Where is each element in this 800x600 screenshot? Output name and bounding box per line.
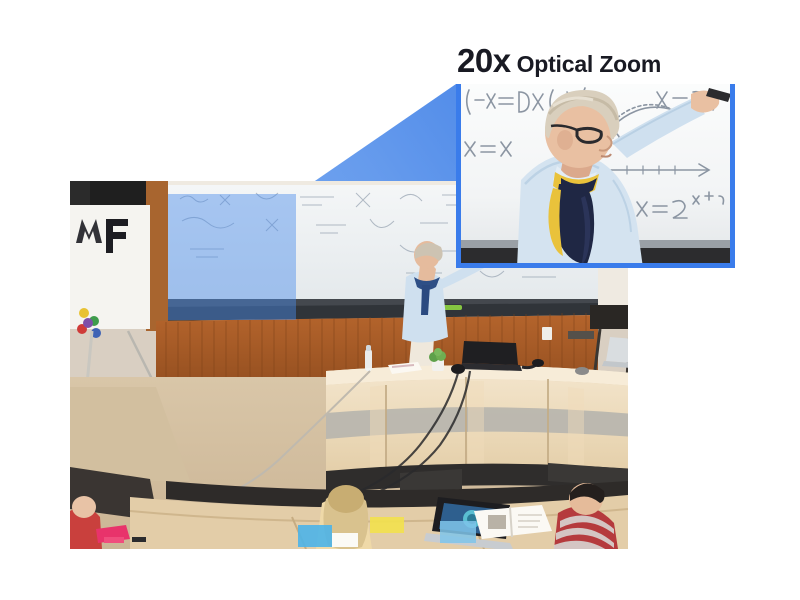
podium-desk: [326, 365, 628, 499]
inset-illustration: [461, 84, 730, 268]
magnification-value: 20x: [457, 42, 511, 79]
page-title: 20xOptical Zoom: [457, 44, 661, 77]
optical-zoom-inset: [456, 84, 735, 268]
zoom-promo-canvas: 20xOptical Zoom: [0, 0, 800, 600]
magnification-label: Optical Zoom: [517, 51, 662, 77]
